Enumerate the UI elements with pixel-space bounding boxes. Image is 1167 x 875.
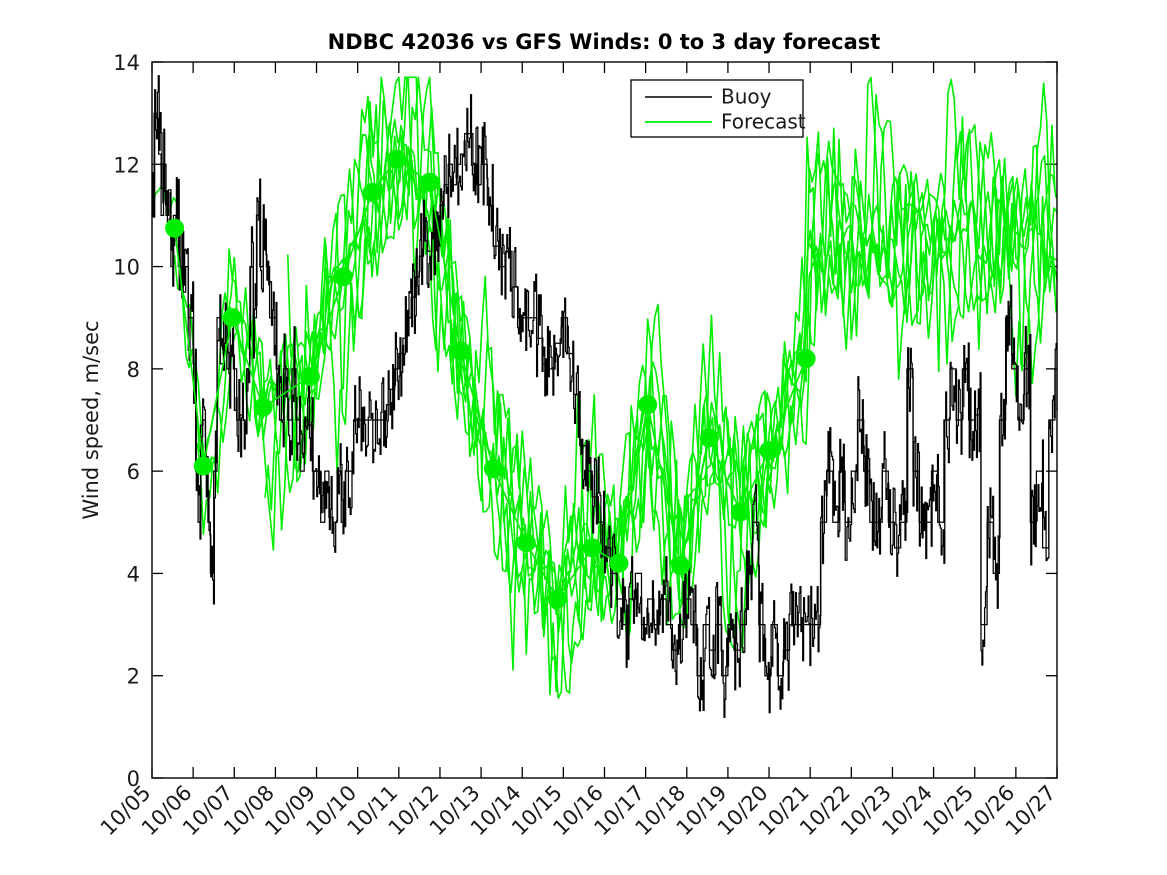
y-tick-label: 14 [113,51,140,75]
forecast-marker[interactable] [363,183,382,202]
forecast-marker[interactable] [484,459,503,478]
forecast-marker[interactable] [223,308,242,327]
forecast-marker[interactable] [517,533,536,552]
chart-title: NDBC 42036 vs GFS Winds: 0 to 3 day fore… [328,30,881,54]
forecast-marker[interactable] [609,554,628,573]
legend-label-forecast: Forecast [721,110,806,134]
forecast-marker[interactable] [194,457,213,476]
forecast-marker[interactable] [420,173,439,192]
forecast-marker[interactable] [583,538,602,557]
figure-canvas: NDBC 42036 vs GFS Winds: 0 to 3 day fore… [0,0,1167,875]
y-tick-label: 6 [127,460,140,484]
y-tick-label: 2 [127,665,140,689]
legend-label-buoy: Buoy [721,85,772,109]
y-tick-label: 12 [113,153,140,177]
forecast-marker[interactable] [638,395,657,414]
y-tick-label: 8 [127,358,140,382]
y-tick-label: 4 [127,562,140,586]
forecast-marker[interactable] [731,503,750,522]
forecast-marker[interactable] [548,590,567,609]
forecast-marker[interactable] [254,398,273,417]
forecast-marker[interactable] [387,150,406,169]
forecast-marker[interactable] [797,349,816,368]
y-tick-label: 10 [113,256,140,280]
wind-speed-chart: NDBC 42036 vs GFS Winds: 0 to 3 day fore… [0,0,1167,875]
y-axis-label: Wind speed, m/sec [79,320,103,519]
forecast-marker[interactable] [671,556,690,575]
forecast-marker[interactable] [700,428,719,447]
forecast-marker[interactable] [165,219,184,238]
forecast-marker[interactable] [451,342,470,361]
forecast-marker[interactable] [760,441,779,460]
chart-legend[interactable]: Buoy Forecast [631,80,806,137]
forecast-marker[interactable] [334,267,353,286]
forecast-marker[interactable] [301,367,320,386]
